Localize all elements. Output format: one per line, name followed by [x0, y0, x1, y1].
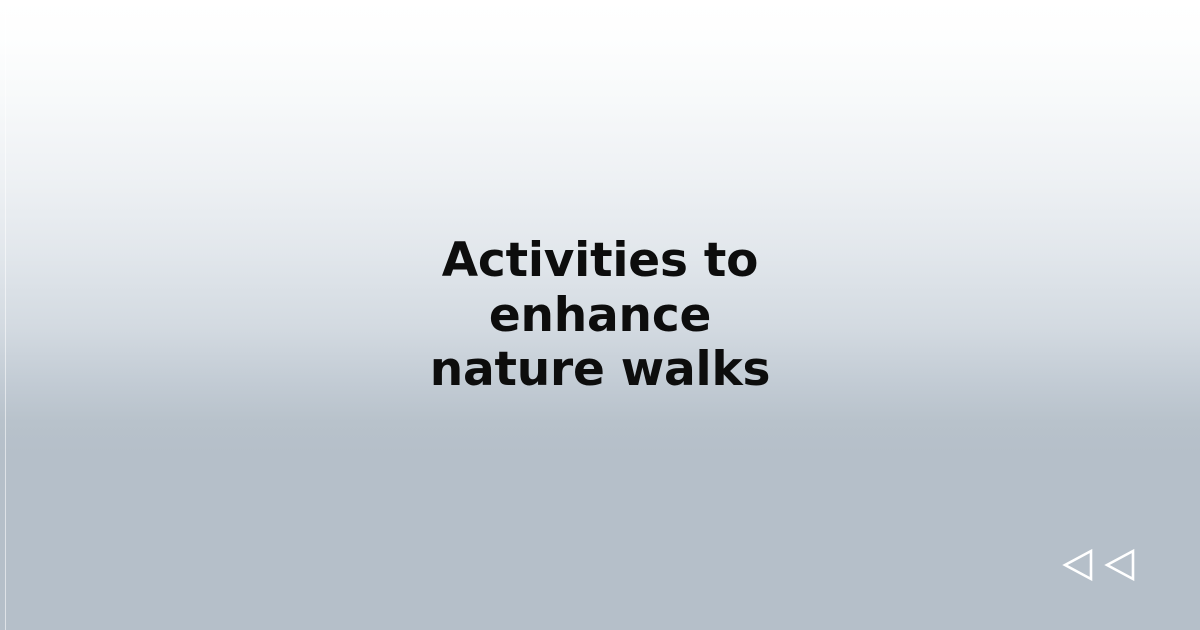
- rewind-control[interactable]: [1060, 546, 1140, 584]
- title-card: Activities to enhance nature walks: [0, 0, 1200, 630]
- page-title: Activities to enhance nature walks: [340, 233, 860, 398]
- triangle-left-icon-2[interactable]: [1102, 546, 1140, 584]
- triangle-left-icon-1[interactable]: [1060, 546, 1098, 584]
- title-block: Activities to enhance nature walks: [0, 0, 1200, 630]
